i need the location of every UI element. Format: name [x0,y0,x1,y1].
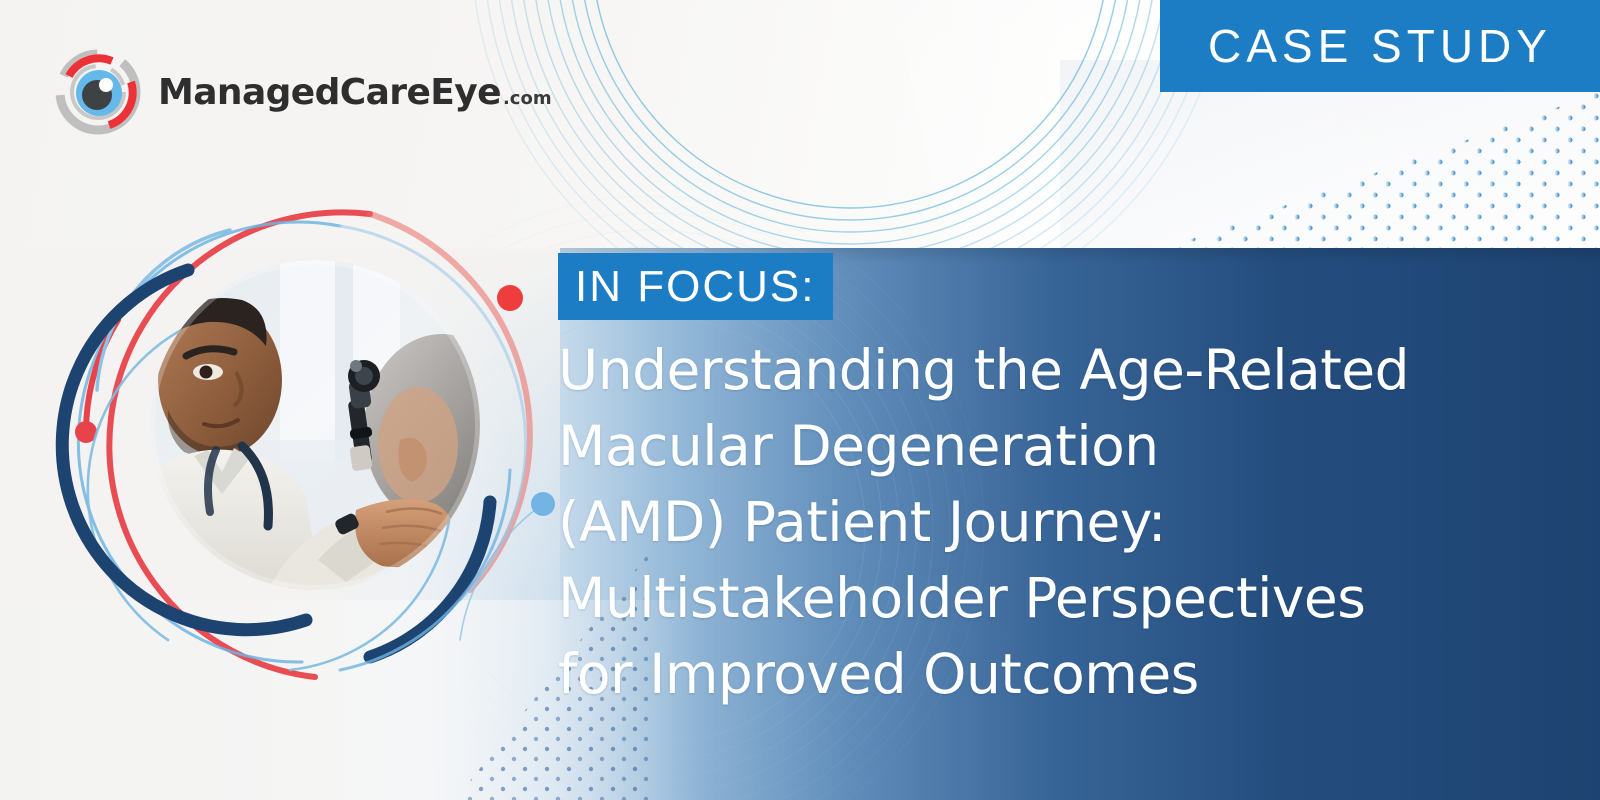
eye-icon [52,46,144,138]
headline-line-4: Multistakeholder Perspectives [558,560,1558,636]
headline-line-1: Understanding the Age-Related [558,332,1558,408]
brand-logo-text: ManagedCareEye .com [158,72,552,113]
in-focus-label: IN FOCUS: [575,262,815,312]
case-study-banner-graphic: CASE STUDY ManagedCareEye . [0,0,1600,800]
brand-logo[interactable]: ManagedCareEye .com [52,46,552,138]
headline-line-2: Macular Degeneration [558,408,1558,484]
dot-grid-top-right [1150,92,1600,254]
red-accent-dot [497,285,523,311]
headline-line-5: for Improved Outcomes [558,636,1558,712]
case-study-badge: CASE STUDY [1160,0,1600,92]
photo-doctor-patient [150,260,480,590]
brand-tld: .com [503,88,552,109]
light-blue-accent-dot [531,492,555,516]
page-title: Understanding the Age-Related Macular De… [558,332,1558,712]
case-study-badge-label: CASE STUDY [1208,19,1552,73]
in-focus-badge: IN FOCUS: [558,253,833,320]
brand-name: ManagedCareEye [158,72,501,113]
headline-line-3: (AMD) Patient Journey: [558,484,1558,560]
